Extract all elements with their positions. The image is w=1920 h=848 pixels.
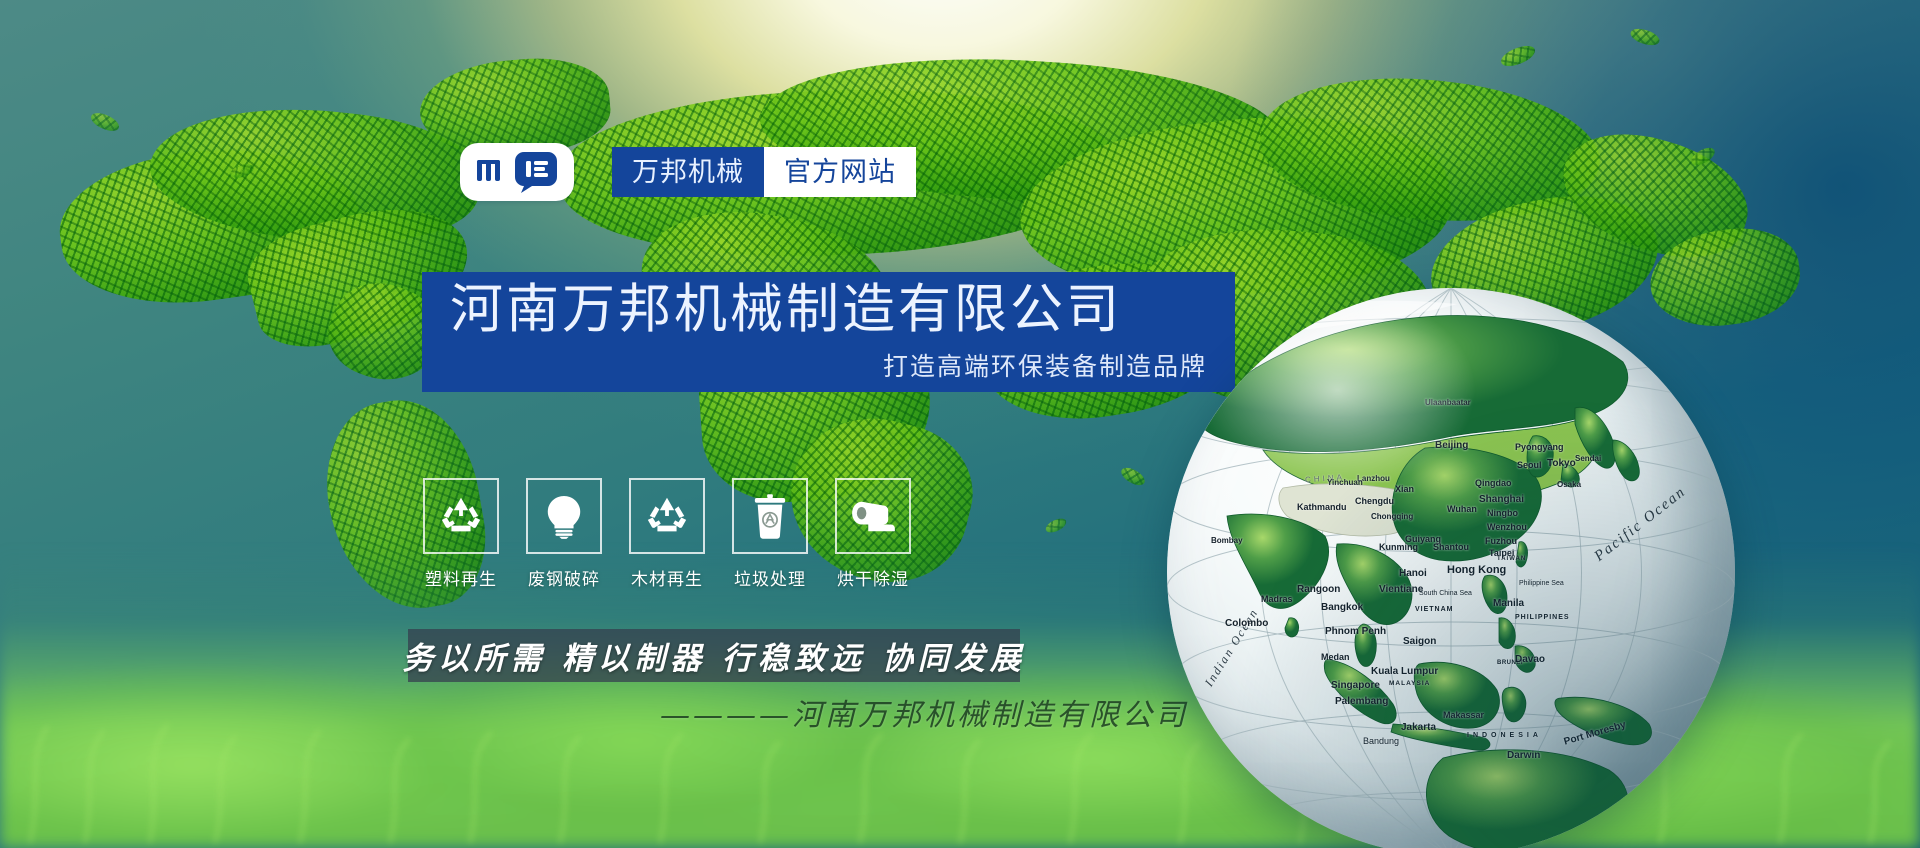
- logo-w-icon: [475, 157, 507, 187]
- service-icon-box: [423, 478, 499, 554]
- company-logo[interactable]: [460, 143, 574, 201]
- service-icon-row: 塑料再生 废钢破碎: [423, 478, 911, 590]
- service-icon-box: [835, 478, 911, 554]
- service-item-drying-dehumidifying[interactable]: 烘干除湿: [835, 478, 911, 590]
- service-label: 烘干除湿: [837, 565, 909, 590]
- service-label: 废钢破碎: [528, 565, 600, 590]
- service-item-wood-recycling[interactable]: 木材再生: [629, 478, 705, 590]
- tab-wanbang-machinery[interactable]: 万邦机械: [612, 147, 764, 197]
- service-label: 垃圾处理: [734, 565, 806, 590]
- slogan-text: 务以所需 精以制器 行稳致远 协同发展: [402, 633, 1025, 678]
- tab-official-website[interactable]: 官方网站: [764, 147, 916, 197]
- service-item-waste-treatment[interactable]: 垃圾处理: [732, 478, 808, 590]
- service-label: 木材再生: [631, 565, 703, 590]
- hero-banner: 万邦机械 官方网站 河南万邦机械制造有限公司 打造高端环保装备制造品牌: [0, 0, 1920, 848]
- logo-speech-bubble-icon: [513, 150, 559, 194]
- service-label: 塑料再生: [425, 565, 497, 590]
- slogan-banner: 务以所需 精以制器 行稳致远 协同发展: [408, 629, 1020, 682]
- service-icon-box: [526, 478, 602, 554]
- service-item-scrap-steel-crushing[interactable]: 废钢破碎: [526, 478, 602, 590]
- service-icon-box: [732, 478, 808, 554]
- recycle-icon: [438, 493, 484, 539]
- dryer-blower-icon: [849, 497, 897, 535]
- recycle-icon: [644, 493, 690, 539]
- page-title: 河南万邦机械制造有限公司: [450, 282, 1207, 337]
- lightbulb-icon: [543, 493, 585, 539]
- trash-bin-icon: [752, 493, 788, 539]
- header-tabs: 万邦机械 官方网站: [612, 147, 916, 197]
- globe-map-svg: [1167, 288, 1735, 848]
- globe-sphere: Pacific Ocean Indian Ocean South China S…: [1167, 288, 1735, 848]
- service-icon-box: [629, 478, 705, 554]
- service-item-plastic-recycling[interactable]: 塑料再生: [423, 478, 499, 590]
- slogan-signature: ————河南万邦机械制造有限公司: [660, 690, 1220, 734]
- site-header: 万邦机械 官方网站: [460, 140, 916, 204]
- globe-graphic: Pacific Ocean Indian Ocean South China S…: [1167, 288, 1735, 848]
- hero-tagline: 打造高端环保装备制造品牌: [450, 347, 1207, 383]
- hero-title-block: 河南万邦机械制造有限公司 打造高端环保装备制造品牌: [422, 272, 1235, 392]
